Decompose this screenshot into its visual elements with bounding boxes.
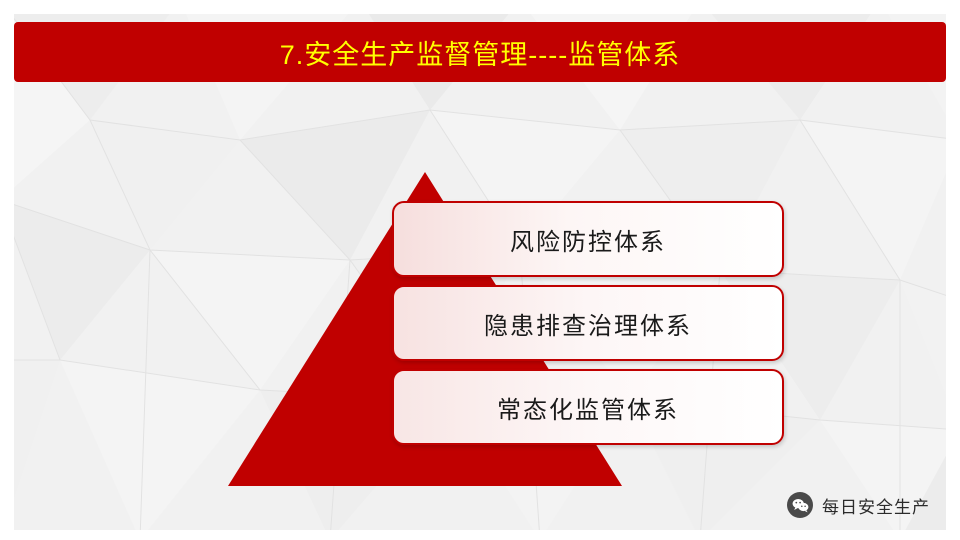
pyramid-level-3-label: 常态化监管体系 [497, 390, 679, 425]
pyramid-level-boxes: 风险防控体系 隐患排查治理体系 常态化监管体系 [392, 201, 784, 453]
pyramid-level-3[interactable]: 常态化监管体系 [392, 369, 784, 445]
slide-frame-bottom [0, 530, 960, 540]
page-title: 7.安全生产监督管理----监管体系 [280, 33, 680, 72]
slide-frame-right [946, 0, 960, 540]
pyramid-level-1[interactable]: 风险防控体系 [392, 201, 784, 277]
footer-watermark: 每日安全生产 [787, 492, 930, 518]
slide: 7.安全生产监督管理----监管体系 风险防控体系 隐患排查治理体系 常态化监管… [0, 0, 960, 540]
slide-frame-left [0, 0, 14, 540]
pyramid-level-2-label: 隐患排查治理体系 [484, 306, 692, 341]
title-banner: 7.安全生产监督管理----监管体系 [14, 22, 946, 82]
footer-label: 每日安全生产 [822, 493, 930, 518]
pyramid-level-2[interactable]: 隐患排查治理体系 [392, 285, 784, 361]
wechat-icon [787, 492, 813, 518]
pyramid-level-1-label: 风险防控体系 [510, 222, 666, 257]
slide-frame-top [0, 0, 960, 14]
